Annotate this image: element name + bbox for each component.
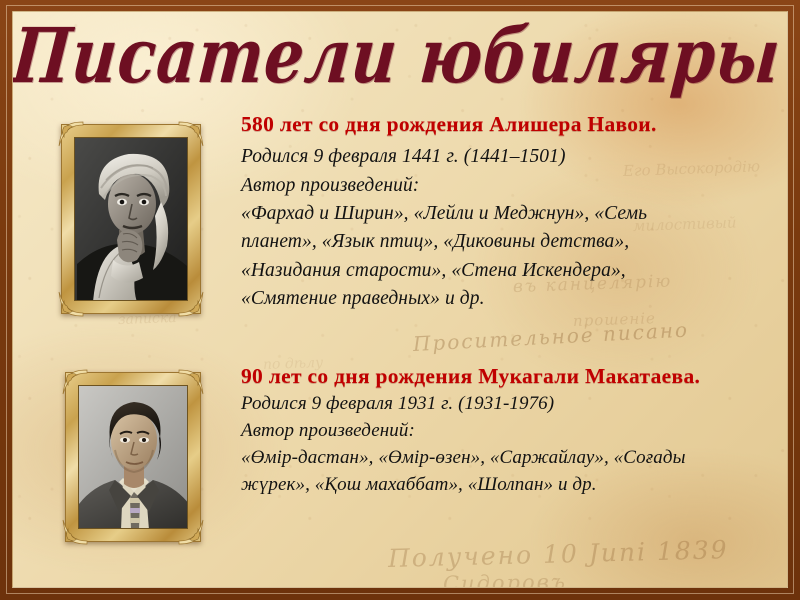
entry-line: Родился 9 февраля 1931 г. (1931-1976) xyxy=(241,391,771,418)
portrait-alisher-navoi-image xyxy=(75,138,188,301)
entry-text-alisher-navoi: 580 лет со дня рождения Алишера Навои. Р… xyxy=(241,112,771,314)
entry-headline: 580 лет со дня рождения Алишера Навои. xyxy=(241,112,771,136)
slide-frame: Просительное писано Получено 10 Juni 183… xyxy=(0,0,800,600)
entry-line: «Өмір-дастан», «Өмір-өзен», «Саржайлау»,… xyxy=(241,445,771,472)
page-title: Писатели юбиляры xyxy=(12,16,784,98)
portrait-mukagali-makatayev xyxy=(78,385,188,529)
entry-text-mukagali-makatayev: 90 лет со дня рождения Мукагали Макатаев… xyxy=(241,364,771,499)
entry-line: Автор произведений: xyxy=(241,418,771,445)
parchment-canvas: Просительное писано Получено 10 Juni 183… xyxy=(12,11,788,588)
portrait-mukagali-makatayev-frame xyxy=(65,372,201,542)
background-script-line: Сидоровъ xyxy=(443,570,567,588)
entry-line: «Назидания старости», «Стена Искендера», xyxy=(241,257,771,285)
entry-line: «Смятение праведных» и др. xyxy=(241,285,771,313)
writer-entry-alisher-navoi: 580 лет со дня рождения Алишера Навои. Р… xyxy=(13,112,787,342)
entry-line: Родился 9 февраля 1441 г. (1441–1501) xyxy=(241,143,771,171)
portrait-alisher-navoi xyxy=(74,137,188,301)
entry-line: Автор произведений: xyxy=(241,172,771,200)
entry-headline: 90 лет со дня рождения Мукагали Макатаев… xyxy=(241,364,771,388)
entry-line: планет», «Язык птиц», «Диковины детства»… xyxy=(241,228,771,256)
portrait-mukagali-makatayev-image xyxy=(79,386,188,529)
portrait-alisher-navoi-frame xyxy=(61,124,201,314)
entry-line: «Фархад и Ширин», «Лейли и Меджнун», «Се… xyxy=(241,200,771,228)
entry-line: жүрек», «Қош махаббат», «Шолпан» и др. xyxy=(241,472,771,499)
slide-title-area: Писатели юбиляры xyxy=(13,16,787,83)
writer-entry-mukagali-makatayev: 90 лет со дня рождения Мукагали Макатаев… xyxy=(13,364,787,544)
